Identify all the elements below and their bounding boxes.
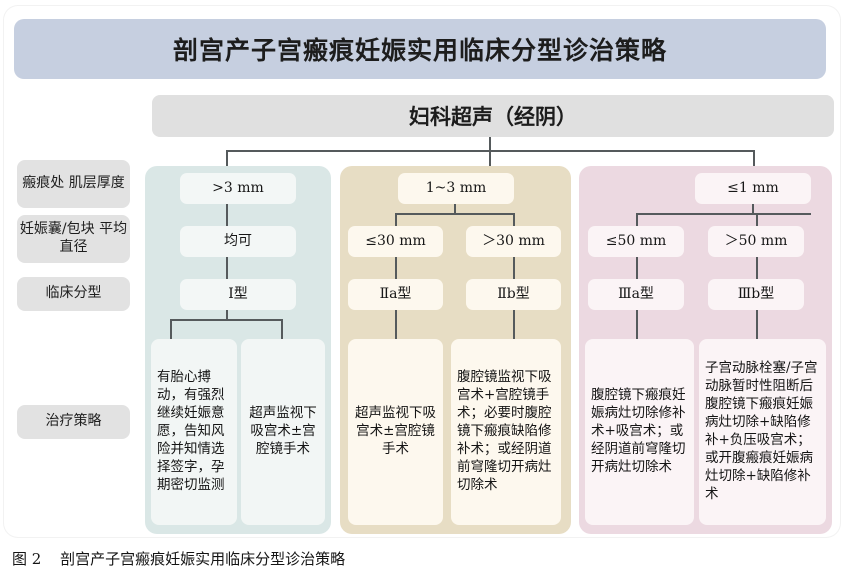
page-title: 剖宫产子宫瘢痕妊娠实用临床分型诊治策略 xyxy=(173,31,667,67)
connector-c1-a2 xyxy=(513,257,515,279)
connector-c0-b xyxy=(226,257,228,279)
connector-c2-right xyxy=(756,213,758,227)
figure-container: 剖宫产子宫瘢痕妊娠实用临床分型诊治策略 妇科超声（经阴） 瘢痕处 肌层厚度 妊娠… xyxy=(0,0,845,579)
row-label-scar-thickness: 瘢痕处 肌层厚度 xyxy=(17,160,130,208)
connector-c2-b2 xyxy=(756,310,758,340)
node-thickness-gt3mm: >3 mm xyxy=(180,173,296,204)
node-type-IIb: Ⅱb型 xyxy=(466,279,561,310)
connector-c1-bar xyxy=(395,213,515,215)
figure-caption: 图 2 剖宫产子宫瘢痕妊娠实用临床分型诊治策略 xyxy=(12,548,345,569)
connector-c2-a1 xyxy=(636,257,638,279)
column-1to3mm: 1~3 mm ≤30 mm ＞30 mm Ⅱa型 Ⅱb型 超声监视下吸宫术±宫腔… xyxy=(340,166,571,534)
connector-c1-right xyxy=(513,213,515,227)
connector-root-to-col2 xyxy=(753,150,755,166)
root-node-label: 妇科超声（经阴） xyxy=(409,101,577,131)
node-type-IIIb: Ⅲb型 xyxy=(708,279,804,310)
connector-root-to-col0 xyxy=(226,150,228,166)
connector-c1-left xyxy=(395,213,397,227)
connector-c0-left xyxy=(170,319,172,340)
connector-c2-b1 xyxy=(636,310,638,340)
connector-c1-b2 xyxy=(513,310,515,340)
row-label-sac-diameter: 妊娠囊/包块 平均直径 xyxy=(17,215,130,263)
treatment-box-IIa: 超声监视下吸宫术±宫腔镜手术 xyxy=(348,339,443,525)
connector-root-stem xyxy=(489,137,491,151)
treatment-box-IIIb: 子宫动脉栓塞/子宫动脉暂时性阻断后腹腔镜下瘢痕妊娠病灶切除+缺陷修补+负压吸宫术… xyxy=(699,339,826,525)
treatment-box-I-suction: 超声监视下吸宫术±宫腔镜手术 xyxy=(241,339,325,525)
figure-caption-number: 图 2 xyxy=(12,550,41,568)
figure-caption-text: 剖宫产子宫瘢痕妊娠实用临床分型诊治策略 xyxy=(60,550,345,568)
connector-root-to-col1 xyxy=(489,150,491,166)
connector-c0-bar xyxy=(170,319,283,321)
figure-title-bar: 剖宫产子宫瘢痕妊娠实用临床分型诊治策略 xyxy=(14,19,826,79)
column-gt3mm: >3 mm 均可 Ⅰ型 有胎心搏动，有强烈继续妊娠意愿，告知风险并知情选择签字，… xyxy=(145,166,331,534)
node-type-IIIa: Ⅲa型 xyxy=(588,279,684,310)
connector-c1-b1 xyxy=(395,310,397,340)
treatment-box-I-observe: 有胎心搏动，有强烈继续妊娠意愿，告知风险并知情选择签字，孕期密切监测 xyxy=(151,339,237,525)
node-type-I: Ⅰ型 xyxy=(180,279,296,310)
node-diameter-le30mm: ≤30 mm xyxy=(348,226,443,257)
node-thickness-le1mm: ≤1 mm xyxy=(695,173,811,204)
connector-c2-a2 xyxy=(756,257,758,279)
root-node-ultrasound: 妇科超声（经阴） xyxy=(152,95,834,137)
row-label-clinical-type: 临床分型 xyxy=(17,277,130,311)
connector-c0-a xyxy=(226,204,228,226)
node-diameter-le50mm: ≤50 mm xyxy=(588,226,684,257)
node-diameter-gt50mm: ＞50 mm xyxy=(708,226,804,257)
node-diameter-gt30mm: ＞30 mm xyxy=(466,226,561,257)
treatment-box-IIIa: 腹腔镜下瘢痕妊娠病灶切除修补术+吸宫术；或经阴道前穹隆切开病灶切除术 xyxy=(585,339,694,525)
node-diameter-any: 均可 xyxy=(180,226,296,257)
node-thickness-1to3mm: 1~3 mm xyxy=(398,173,514,204)
row-label-treatment-strategy: 治疗策略 xyxy=(17,405,130,439)
node-type-IIa: Ⅱa型 xyxy=(348,279,443,310)
connector-c1-a1 xyxy=(395,257,397,279)
connector-c2-left xyxy=(636,213,638,227)
column-le1mm: ≤1 mm ≤50 mm ＞50 mm Ⅲa型 Ⅲb型 腹腔镜下瘢痕妊娠病灶切除… xyxy=(579,166,832,534)
connector-c0-right xyxy=(281,319,283,340)
treatment-box-IIb: 腹腔镜监视下吸宫术+宫腔镜手术；必要时腹腔镜下瘢痕缺陷修补术；或经阴道前穹隆切开… xyxy=(451,339,561,525)
connector-c2-bar xyxy=(636,213,811,215)
